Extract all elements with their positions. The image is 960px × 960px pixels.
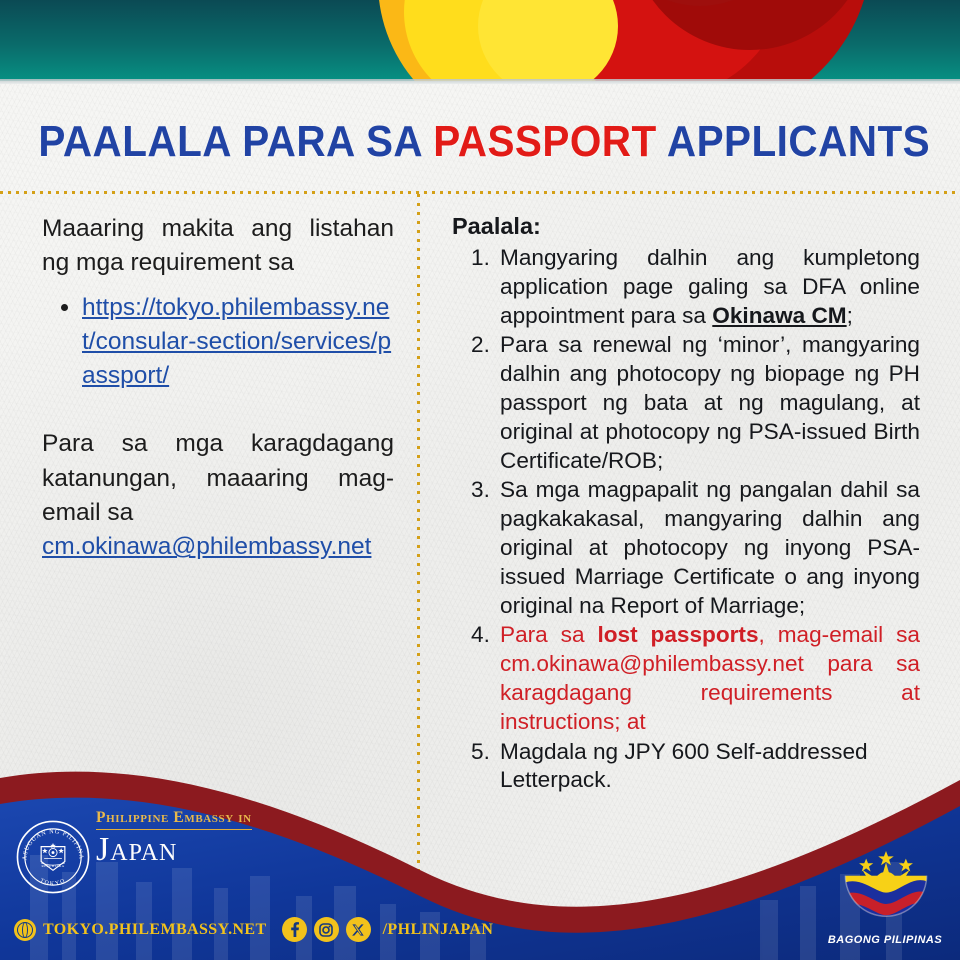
banner-bottom-edge (0, 79, 960, 84)
list-item: Para sa renewal ng ‘minor’, mangyaring d… (471, 331, 920, 475)
bagong-pilipinas-caption: BAGONG PILIPINAS (824, 934, 946, 946)
title-segment-3: APPLICANTS (657, 117, 930, 166)
page-title: PAALALA PARA SA PASSPORT APPLICANTS (0, 120, 960, 164)
note-text-pre: Para sa (500, 622, 597, 647)
facebook-icon[interactable] (282, 917, 307, 942)
footer-banner: PASUGUAN NG PILIPINAS TOKYO REPUBLIKA (0, 750, 960, 960)
note-text-emphasis: lost passports (597, 622, 758, 647)
note-text-pre: Sa mga magpapalit ng pangalan dahil sa p… (500, 477, 920, 617)
left-spacer (42, 393, 394, 427)
note-text-pre: Para sa renewal ng ‘minor’, mangyaring d… (500, 332, 920, 472)
embassy-wordmark-line2: Japan (96, 832, 346, 868)
right-column: Paalala: Mangyaring dalhin ang kumpleton… (452, 212, 920, 796)
note-text-post: ; (847, 303, 853, 328)
philippine-embassy-seal-icon: PASUGUAN NG PILIPINAS TOKYO REPUBLIKA (16, 820, 90, 894)
social-links-row: TOKYO.PHILEMBASSY.NET /PHLINJAPAN (14, 917, 493, 942)
passport-requirements-link[interactable]: https://tokyo.philembassy.net/consular-s… (82, 294, 391, 390)
left-email-intro-text: Para sa mga karagdagang katanungan, maaa… (42, 427, 394, 530)
bagong-pilipinas-logo-icon (834, 834, 938, 938)
note-text-pre: Mangyaring dalhin ang kumpletong applica… (500, 245, 920, 328)
social-handle-label: /PHLINJAPAN (383, 921, 494, 939)
okinawa-email-link[interactable]: cm.okinawa@philembassy.net (42, 533, 371, 560)
list-item: Mangyaring dalhin ang kumpletong applica… (471, 244, 920, 330)
globe-icon (14, 919, 36, 941)
instagram-icon[interactable] (314, 917, 339, 942)
banner-decorative-shapes (0, 0, 960, 81)
x-twitter-icon[interactable] (346, 917, 371, 942)
note-text-emphasis: Okinawa CM (712, 303, 846, 328)
list-item: https://tokyo.philembassy.net/consular-s… (82, 291, 394, 394)
embassy-wordmark: Philippine Embassy in Japan (96, 809, 346, 868)
svg-text:PASUGUAN NG PILIPINAS: PASUGUAN NG PILIPINAS (16, 820, 85, 861)
poster-canvas: PAALALA PARA SA PASSPORT APPLICANTS Maaa… (0, 0, 960, 960)
top-banner (0, 0, 960, 81)
reminders-heading: Paalala: (452, 212, 920, 242)
svg-text:REPUBLIKA: REPUBLIKA (41, 864, 64, 868)
left-link-list: https://tokyo.philembassy.net/consular-s… (42, 291, 394, 394)
reminders-list: Mangyaring dalhin ang kumpletong applica… (452, 244, 920, 795)
left-email-line: cm.okinawa@philembassy.net (42, 530, 394, 564)
left-column: Maaaring makita ang listahan ng mga requ… (42, 212, 394, 565)
embassy-wordmark-line1: Philippine Embassy in (96, 809, 252, 830)
list-item: Para sa lost passports, mag-email sa cm.… (471, 621, 920, 736)
title-segment-passport: PASSPORT (433, 117, 656, 166)
website-label[interactable]: TOKYO.PHILEMBASSY.NET (43, 921, 267, 939)
title-segment-1: PAALALA PARA SA (38, 117, 433, 166)
svg-text:TOKYO: TOKYO (39, 878, 67, 887)
list-item: Sa mga magpapalit ng pangalan dahil sa p… (471, 476, 920, 620)
horizontal-dotted-divider (0, 191, 960, 194)
left-intro-text: Maaaring makita ang listahan ng mga requ… (42, 212, 394, 281)
